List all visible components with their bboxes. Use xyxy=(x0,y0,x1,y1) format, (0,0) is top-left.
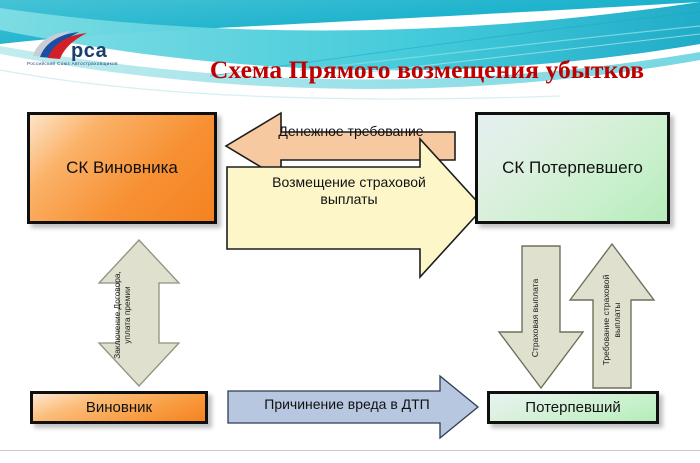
bottom-divider xyxy=(0,450,700,451)
node-insurer-victim[interactable]: СК Потерпевшего xyxy=(475,112,670,224)
label-contract-line2: уплата премии xyxy=(122,247,132,383)
contract-double-arrow xyxy=(99,240,179,386)
label-money-demand: Денежное требование xyxy=(249,123,453,140)
rsa-logo-caption: Российский Союз Автостраховщиков xyxy=(27,61,145,66)
node-at-fault-party[interactable]: Виновник xyxy=(30,391,208,424)
label-contract-line1: Заключение Договора, xyxy=(112,247,122,383)
rsa-logo: рса Российский Союз Автостраховщиков xyxy=(27,28,139,74)
svg-text:рса: рса xyxy=(71,40,108,62)
page-title: Схема Прямого возмещения убытков xyxy=(172,55,682,85)
rsa-logo-mark: рса xyxy=(27,28,139,62)
label-payout-claim: Требование страховой выплаты xyxy=(601,254,622,386)
node-victim-party[interactable]: Потерпевший xyxy=(487,391,659,424)
insurance-payout-arrow xyxy=(499,246,583,388)
label-insurance-payout: Страховая выплата xyxy=(530,256,540,380)
label-contract: Заключение Договора, уплата премии xyxy=(112,247,133,383)
label-harm-in-accident: Причинение вреда в ДТП xyxy=(240,396,454,413)
label-payout-claim-line2: выплаты xyxy=(612,254,623,386)
label-reimbursement: Возмещение страховой выплаты xyxy=(240,174,458,207)
label-payout-claim-line1: Требование страховой xyxy=(601,254,612,386)
label-reimbursement-line1: Возмещение страховой xyxy=(240,174,458,191)
reimbursement-arrow xyxy=(227,139,483,277)
slide-canvas: рса Российский Союз Автостраховщиков Схе… xyxy=(0,0,700,463)
label-reimbursement-line2: выплаты xyxy=(240,191,458,208)
node-insurer-at-fault[interactable]: СК Виновника xyxy=(27,112,217,224)
